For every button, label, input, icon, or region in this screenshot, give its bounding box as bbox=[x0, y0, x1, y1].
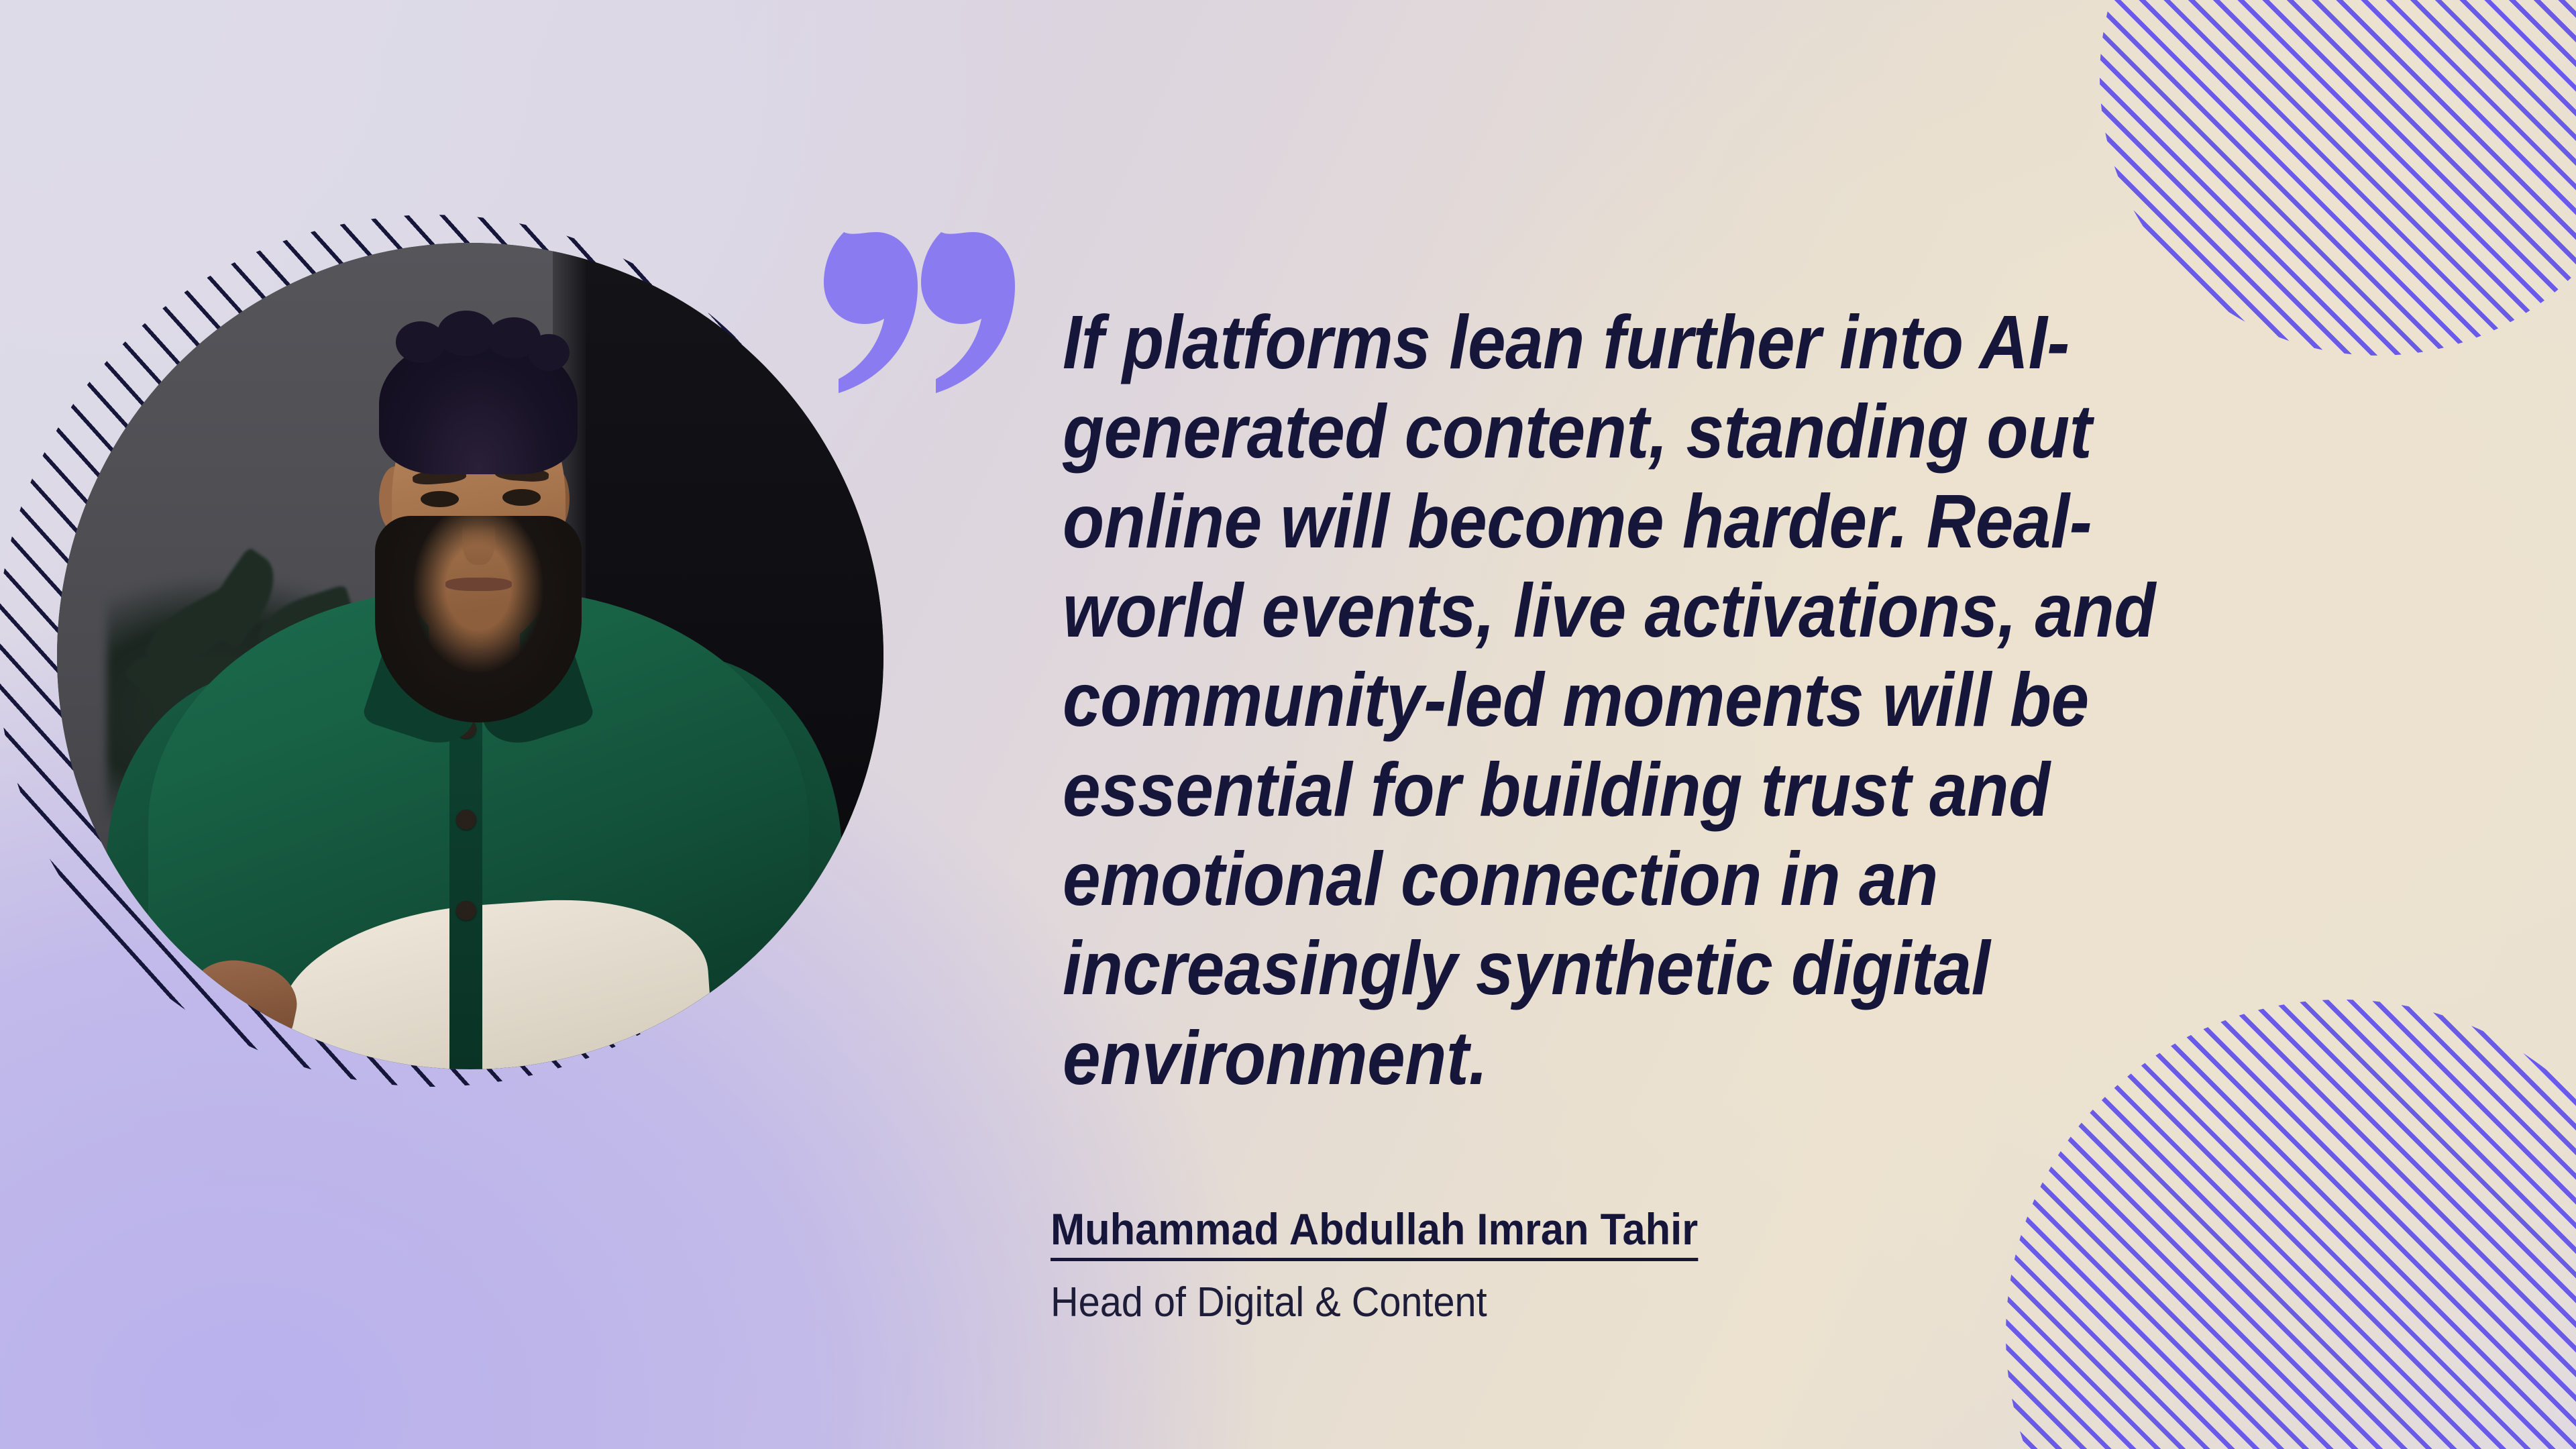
portrait-block bbox=[57, 243, 883, 1069]
attribution-block: Muhammad Abdullah Imran Tahir Head of Di… bbox=[1051, 1204, 2057, 1326]
photo-shirt-button bbox=[456, 810, 476, 830]
author-role: Head of Digital & Content bbox=[1051, 1279, 1986, 1326]
photo-eye-left bbox=[421, 491, 459, 508]
photo-hair-tuft bbox=[528, 334, 570, 371]
photo-nose bbox=[462, 507, 495, 565]
photo-shirt-button bbox=[456, 901, 476, 921]
photo-eye-right bbox=[502, 489, 541, 506]
author-name: Muhammad Abdullah Imran Tahir bbox=[1051, 1204, 1698, 1261]
photo-hair-tuft bbox=[437, 311, 495, 356]
photo-mouth bbox=[445, 578, 512, 591]
testimonial-slide: If platforms lean further into AI-genera… bbox=[0, 0, 2576, 1449]
avatar bbox=[57, 243, 883, 1069]
quote-text: If platforms lean further into AI-genera… bbox=[1063, 298, 2222, 1103]
double-closing-quote-icon bbox=[824, 213, 1025, 394]
